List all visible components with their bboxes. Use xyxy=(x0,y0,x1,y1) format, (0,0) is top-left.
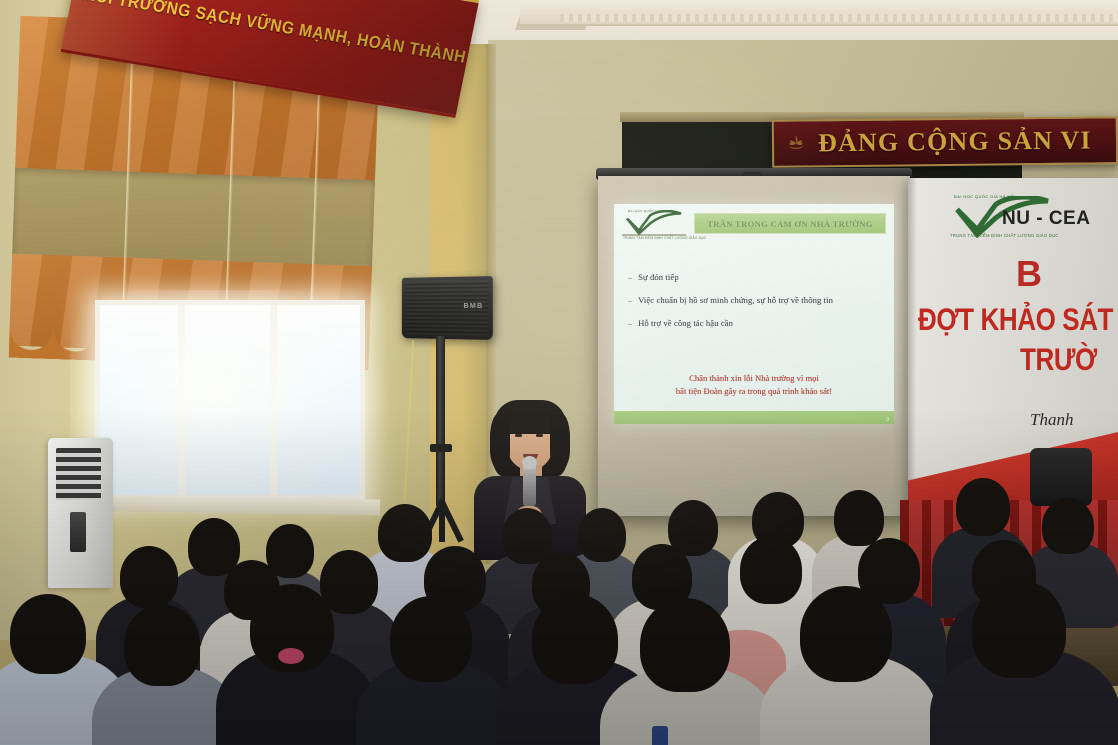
window-mullion xyxy=(178,305,185,495)
audience-head xyxy=(740,536,802,604)
slide-bullet-list: – Sự đón tiếp – Việc chuẩn bị hồ sơ minh… xyxy=(628,272,883,341)
banner-left-edge xyxy=(908,178,916,518)
bullet-text: Hỗ trợ về công tác hậu cần xyxy=(638,318,733,328)
audience-head xyxy=(1042,498,1094,554)
presenter-eye xyxy=(515,434,522,437)
pa-speaker-cabinet: BMB xyxy=(402,276,493,340)
projection-screen: ĐẠI HỌC QUỐC GIA HÀ NỘI TRUNG TÂM KIỂM Đ… xyxy=(598,176,910,516)
audience-head xyxy=(320,550,378,614)
slide-bullet-item: – Việc chuẩn bị hồ sơ minh chứng, sự hỗ … xyxy=(628,295,883,305)
banner-logo-sub-line: TRUNG TÂM KIỂM ĐỊNH CHẤT LƯỢNG GIÁO DỤC xyxy=(950,233,1059,238)
bullet-text: Sự đón tiếp xyxy=(638,272,679,282)
bullet-text: Việc chuẩn bị hồ sơ minh chứng, sự hỗ tr… xyxy=(638,295,833,305)
conference-hall-photo: ĐẢNG CỘNG SẢN VI MÔI TRƯỜNG SẠCH VỮNG MẠ… xyxy=(0,0,1118,745)
lotus-icon xyxy=(784,131,808,155)
audience-head xyxy=(956,478,1010,536)
ceiling-crown-molding xyxy=(520,0,1118,26)
presenter-hair-side xyxy=(490,414,510,476)
audience-head xyxy=(578,508,626,562)
slide-bullet-item: – Hỗ trợ về công tác hậu cần xyxy=(628,318,883,328)
presenter-hair-side xyxy=(550,414,570,476)
pa-speaker-brand-label: BMB xyxy=(463,303,483,310)
bullet-marker: – xyxy=(628,296,632,305)
slide-logo-sub-line: TRUNG TÂM KIỂM ĐỊNH CHẤT LƯỢNG GIÁO DỤC xyxy=(623,236,706,240)
banner-line-2: TRƯỜ xyxy=(1020,341,1097,379)
audience-head xyxy=(834,490,884,546)
banner-heading: B xyxy=(1016,253,1043,295)
banner-line-1: ĐỢT KHẢO SÁT CHÍ xyxy=(918,301,1118,339)
slide-title-band: TRÂN TRỌNG CẢM ƠN NHÀ TRƯỜNG xyxy=(694,213,886,234)
audience-head xyxy=(390,596,472,682)
vnu-cea-checkmark-icon xyxy=(624,210,684,236)
banner-place-text: Thanh xyxy=(1030,410,1073,430)
window-mullion xyxy=(270,305,277,495)
bullet-marker: – xyxy=(628,273,632,282)
projected-slide: ĐẠI HỌC QUỐC GIA HÀ NỘI TRUNG TÂM KIỂM Đ… xyxy=(614,204,894,424)
slide-footer-band: 9 xyxy=(614,411,894,424)
apology-line-1: Chân thành xin lỗi Nhà trường vì mọi xyxy=(614,372,894,385)
microphone-head xyxy=(522,456,537,469)
audience-lanyard xyxy=(652,726,668,745)
audience-head xyxy=(120,546,178,608)
audience-head xyxy=(10,594,86,674)
audience-head xyxy=(640,598,730,692)
plaque-text: ĐẢNG CỘNG SẢN VI xyxy=(818,125,1092,158)
presenter-eye xyxy=(536,434,543,437)
party-plaque: ĐẢNG CỘNG SẢN VI xyxy=(772,116,1118,168)
banner-logo-text: NU - CEA xyxy=(1002,208,1090,230)
audience-head xyxy=(378,504,432,562)
slide-page-number: 9 xyxy=(886,417,889,423)
hair-scrunchie xyxy=(278,648,304,664)
audience-head xyxy=(972,580,1066,678)
audience-head xyxy=(124,604,200,686)
audience-head xyxy=(502,508,552,564)
slide-apology-text: Chân thành xin lỗi Nhà trường vì mọi bất… xyxy=(614,372,894,399)
bullet-marker: – xyxy=(628,319,632,328)
audience-head xyxy=(800,586,892,682)
molding-dentil-detail xyxy=(560,14,1118,22)
audience-head xyxy=(532,594,618,684)
pa-speaker-stand-collar[interactable] xyxy=(430,444,452,452)
seated-audience xyxy=(0,470,1118,745)
slide-bullet-item: – Sự đón tiếp xyxy=(628,272,883,282)
apology-line-2: bất tiện Đoàn gây ra trong quá trình khả… xyxy=(614,385,894,398)
slide-title: TRÂN TRỌNG CẢM ƠN NHÀ TRƯỜNG xyxy=(707,219,873,229)
